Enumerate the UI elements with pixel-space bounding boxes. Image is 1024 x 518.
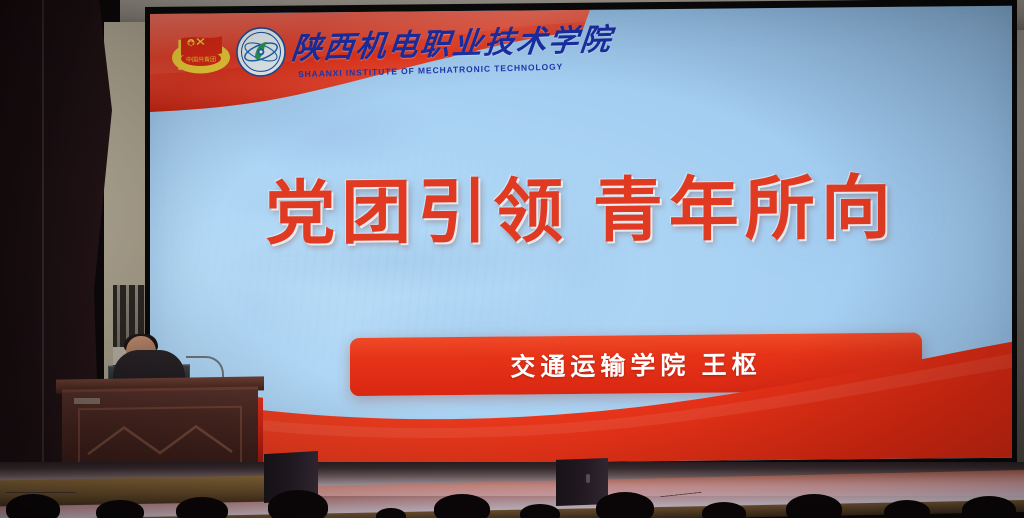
slide-bottom-wave — [150, 338, 1012, 466]
audience-silhouettes — [0, 484, 1024, 518]
slide-title: 党团引领 青年所向 — [150, 166, 1012, 260]
communist-youth-league-emblem-icon: 中国共青团 — [170, 27, 232, 76]
projection-screen: 中国共青团 陕西机电职业技术学院 陕西机电职业技术学院 SHAANXI INST… — [150, 6, 1012, 466]
school-seal-emblem-icon: 陕西机电职业技术学院 — [236, 27, 286, 77]
svg-text:中国共青团: 中国共青团 — [186, 55, 216, 63]
podium-plate — [74, 398, 100, 404]
screenshot-root: 中国共青团 陕西机电职业技术学院 陕西机电职业技术学院 SHAANXI INST… — [0, 0, 1024, 518]
